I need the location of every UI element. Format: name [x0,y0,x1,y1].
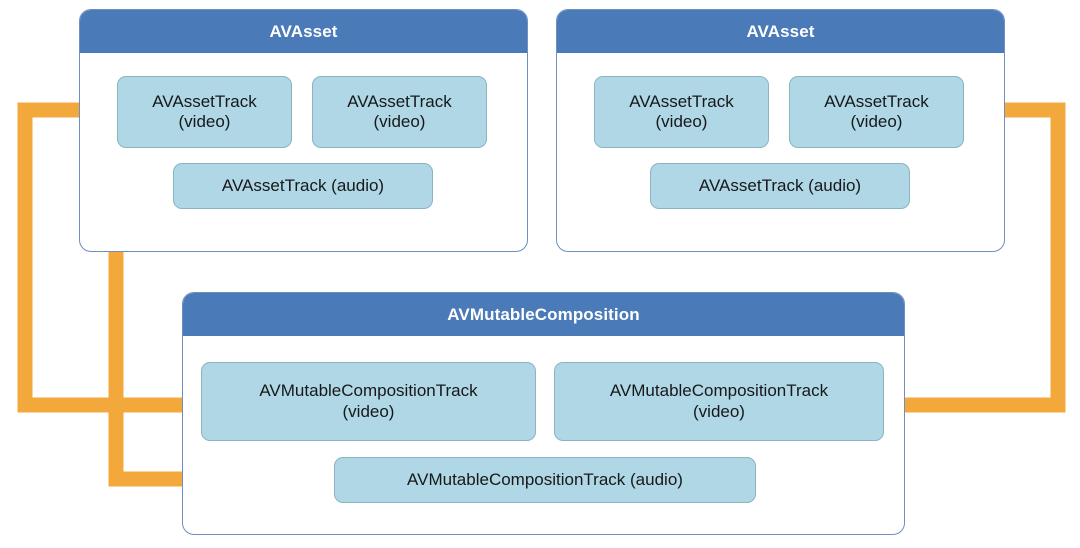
track-label: AVMutableCompositionTrack (audio) [407,470,683,490]
avasset-right-header: AVAsset [557,10,1004,53]
track-avassettrack-video-left-1[interactable]: AVAssetTrack (video) [117,76,292,148]
avasset-right-body: AVAssetTrack (video) AVAssetTrack (video… [557,53,1004,251]
avasset-left-header: AVAsset [80,10,527,53]
track-label: AVAssetTrack (video) [347,92,452,132]
track-label: AVAssetTrack (video) [629,92,734,132]
track-label: AVMutableCompositionTrack (video) [259,381,477,421]
avasset-container-left: AVAsset AVAssetTrack (video) AVAssetTrac… [79,9,528,252]
track-avassettrack-audio-right[interactable]: AVAssetTrack (audio) [650,163,910,209]
avmutablecomposition-body: AVMutableCompositionTrack (video) AVMuta… [183,336,904,534]
track-label: AVAssetTrack (video) [824,92,929,132]
track-avassettrack-video-left-2[interactable]: AVAssetTrack (video) [312,76,487,148]
track-avassettrack-audio-left[interactable]: AVAssetTrack (audio) [173,163,433,209]
avmutablecomposition-container: AVMutableComposition AVMutableCompositio… [182,292,905,535]
track-label: AVAssetTrack (audio) [699,176,861,196]
track-label: AVMutableCompositionTrack (video) [610,381,828,421]
avasset-left-body: AVAssetTrack (video) AVAssetTrack (video… [80,53,527,251]
track-avmutablecompositiontrack-video-2[interactable]: AVMutableCompositionTrack (video) [554,362,884,441]
avasset-container-right: AVAsset AVAssetTrack (video) AVAssetTrac… [556,9,1005,252]
track-avassettrack-video-right-2[interactable]: AVAssetTrack (video) [789,76,964,148]
diagram-canvas: AVAsset AVAssetTrack (video) AVAssetTrac… [0,0,1080,548]
track-label: AVAssetTrack (audio) [222,176,384,196]
track-label: AVAssetTrack (video) [152,92,257,132]
track-avmutablecompositiontrack-audio[interactable]: AVMutableCompositionTrack (audio) [334,457,756,503]
track-avmutablecompositiontrack-video-1[interactable]: AVMutableCompositionTrack (video) [201,362,536,441]
avmutablecomposition-header: AVMutableComposition [183,293,904,336]
track-avassettrack-video-right-1[interactable]: AVAssetTrack (video) [594,76,769,148]
